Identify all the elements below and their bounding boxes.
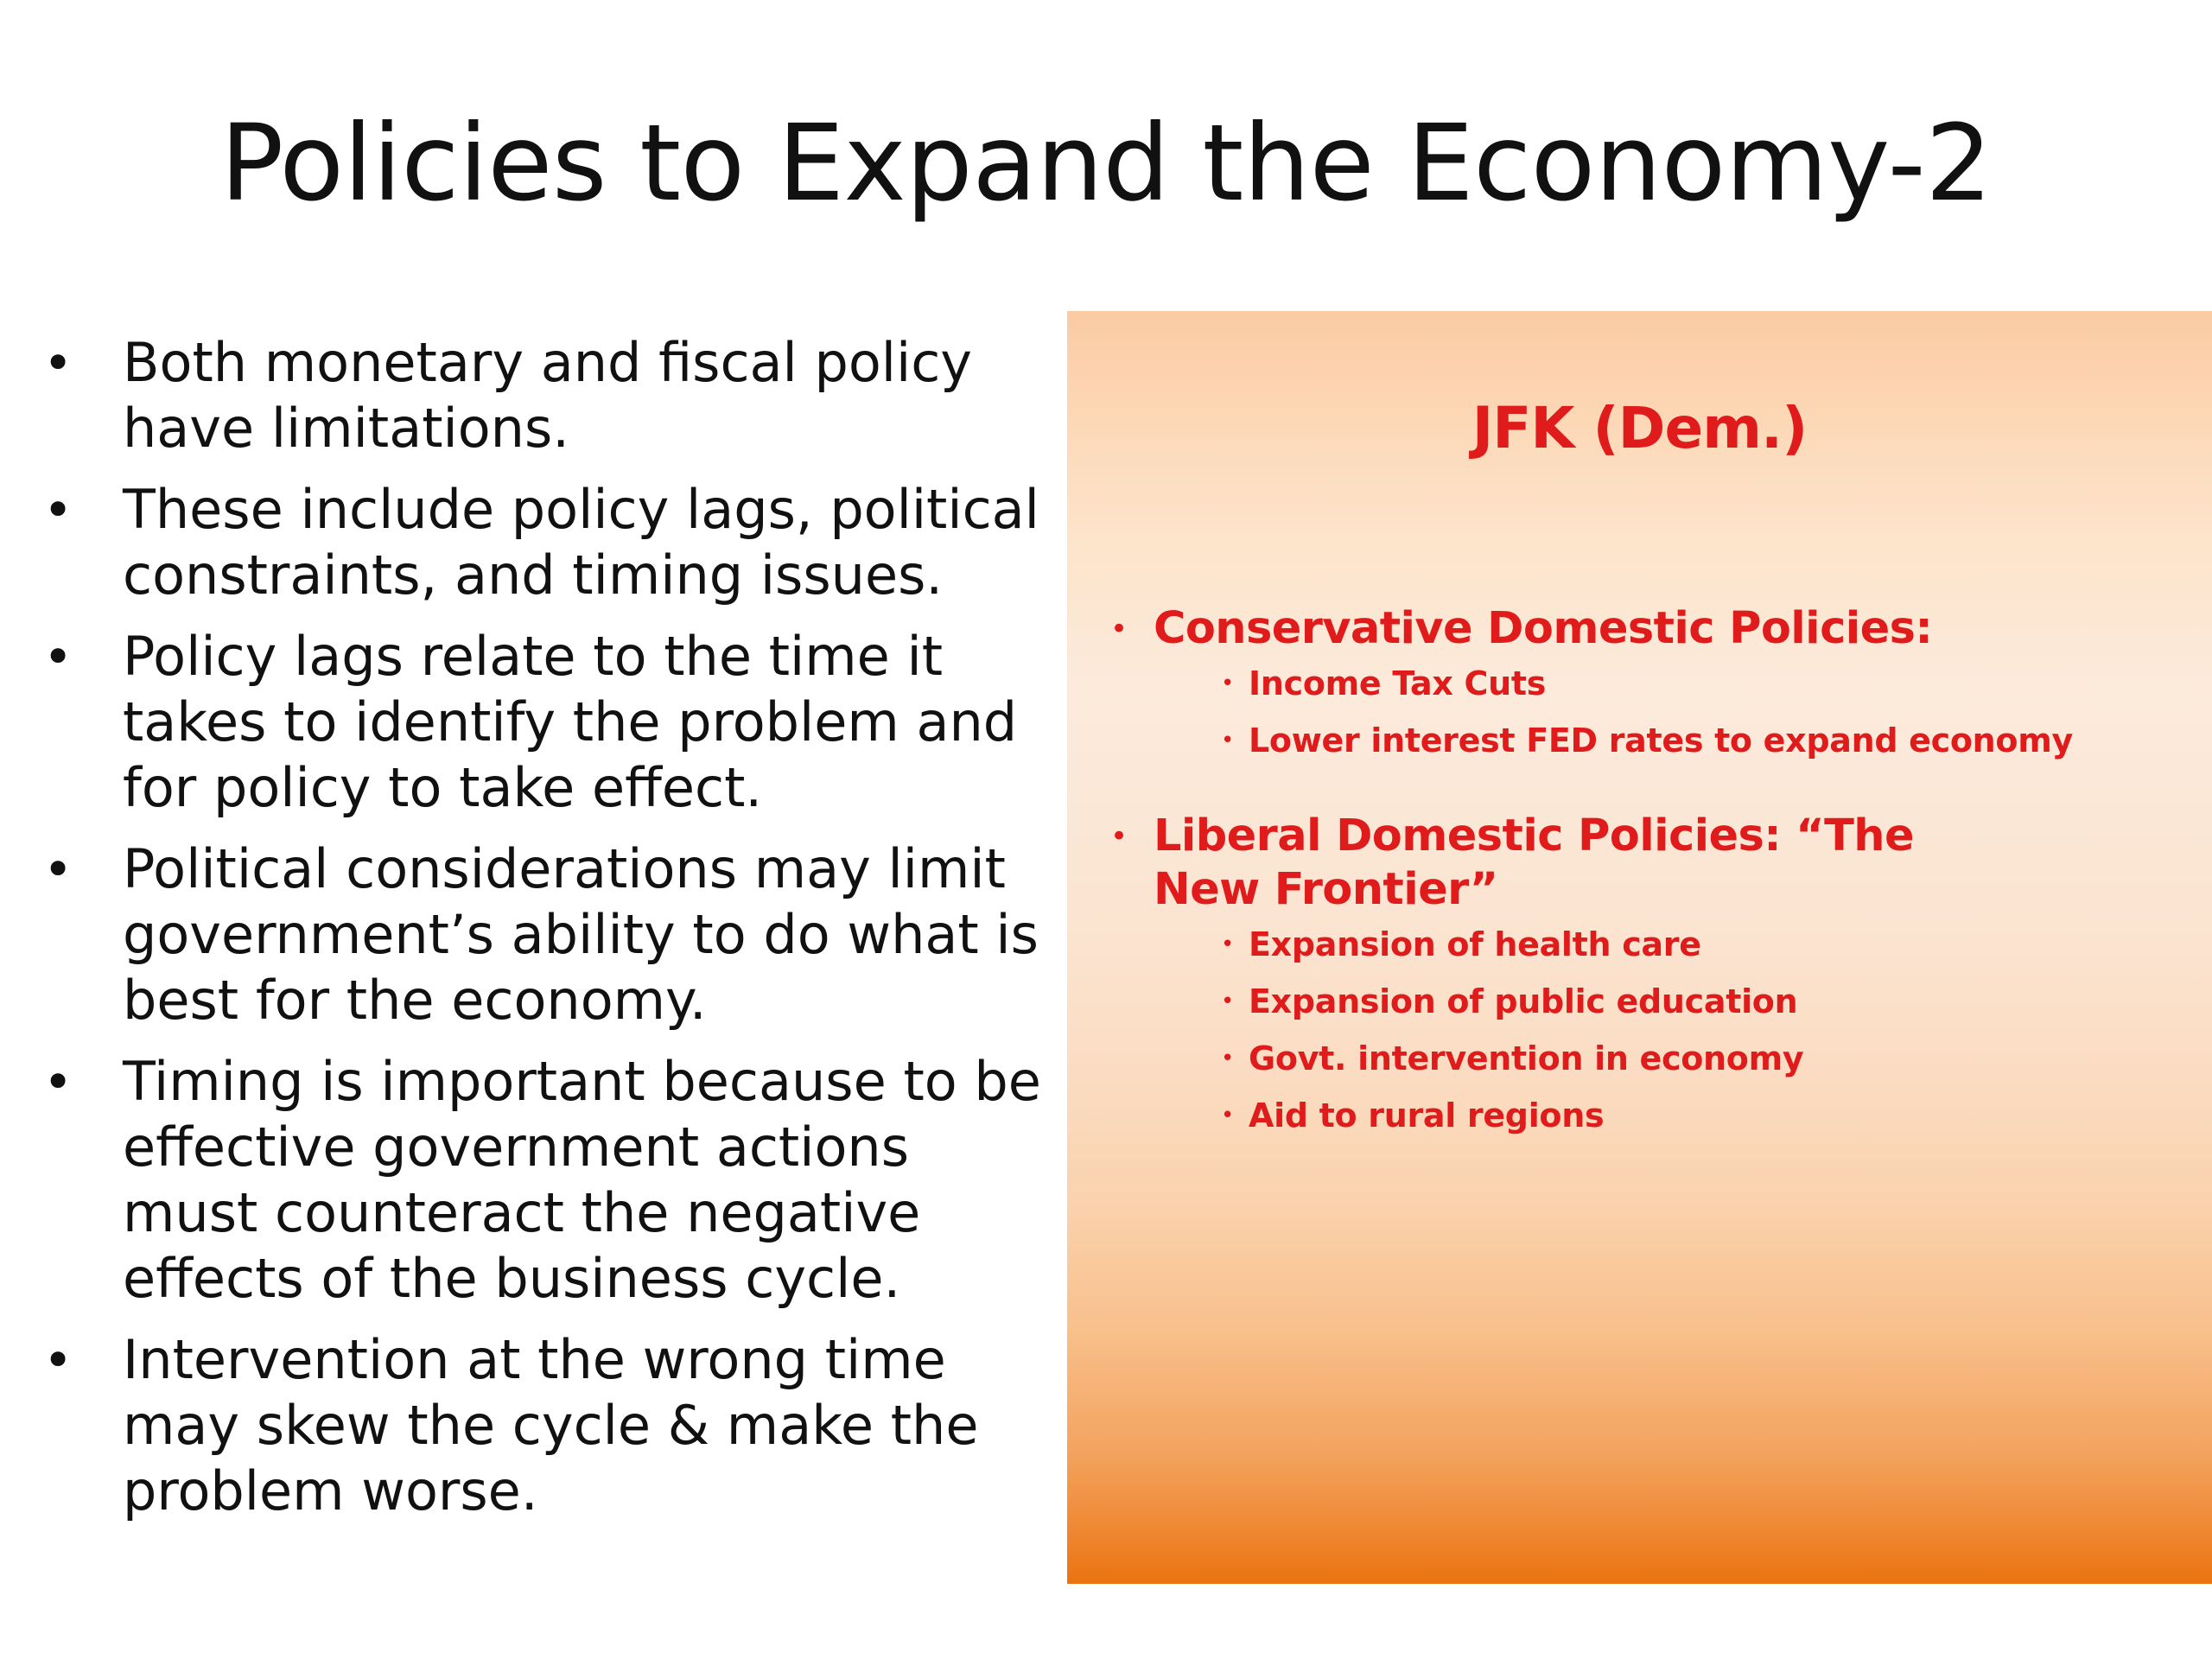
policy-group-liberal: • Liberal Domestic Policies: “The New Fr… [1110, 810, 2190, 1136]
jfk-policy-panel: JFK (Dem.) • Conservative Domestic Polic… [1067, 311, 2212, 1584]
policy-group-heading: • Liberal Domestic Policies: “The New Fr… [1110, 810, 2190, 917]
list-item-label: Expansion of public education [1249, 981, 2190, 1022]
bullet-icon: • [26, 330, 123, 396]
bullet-icon: • [26, 836, 123, 902]
policy-sub-list: • Income Tax Cuts • Lower interest FED r… [1110, 663, 2190, 761]
policy-sub-list: • Expansion of health care • Expansion o… [1110, 924, 2190, 1136]
list-item-label: Expansion of health care [1249, 924, 2190, 965]
policy-group-conservative: • Conservative Domestic Policies: • Inco… [1110, 602, 2190, 761]
list-item: • Govt. intervention in economy [1221, 1038, 2190, 1079]
bullet-icon: • [26, 1049, 123, 1115]
policy-group-heading-label: Conservative Domestic Policies: [1154, 602, 1983, 656]
list-item-label: Both monetary and fiscal policy have lim… [123, 330, 1054, 461]
policy-group-heading: • Conservative Domestic Policies: [1110, 602, 2190, 656]
bullet-icon: • [1110, 810, 1154, 863]
bullet-icon: • [26, 477, 123, 543]
bullet-icon: • [1110, 602, 1154, 656]
list-item: • Expansion of public education [1221, 981, 2190, 1022]
list-item: • Income Tax Cuts [1221, 663, 2190, 704]
list-item: • Political considerations may limit gov… [26, 836, 1054, 1033]
list-item: • Intervention at the wrong time may ske… [26, 1327, 1054, 1524]
list-item-label: Income Tax Cuts [1249, 663, 2190, 704]
list-item: • Expansion of health care [1221, 924, 2190, 965]
list-item-label: Lower interest FED rates to expand econo… [1249, 720, 2190, 761]
policy-group-heading-label: Liberal Domestic Policies: “The New Fron… [1154, 810, 1983, 917]
list-item-label: Intervention at the wrong time may skew … [123, 1327, 1054, 1524]
bullet-icon: • [1221, 1038, 1249, 1079]
list-item-label: Timing is important because to be effect… [123, 1049, 1054, 1312]
list-item: • Policy lags relate to the time it take… [26, 624, 1054, 821]
list-item-label: Aid to rural regions [1249, 1095, 2190, 1136]
jfk-panel-body: • Conservative Domestic Policies: • Inco… [1110, 602, 2190, 1166]
bullet-icon: • [1221, 663, 1249, 704]
page-title: Policies to Expand the Economy-2 [0, 111, 2212, 216]
bullet-icon: • [1221, 924, 1249, 965]
list-item: • Timing is important because to be effe… [26, 1049, 1054, 1312]
list-item: • These include policy lags, political c… [26, 477, 1054, 608]
jfk-panel-heading: JFK (Dem.) [1067, 397, 2212, 461]
list-item: • Both monetary and fiscal policy have l… [26, 330, 1054, 461]
bullet-icon: • [1221, 720, 1249, 761]
list-item-label: These include policy lags, political con… [123, 477, 1054, 608]
list-item-label: Policy lags relate to the time it takes … [123, 624, 1054, 821]
list-item-label: Govt. intervention in economy [1249, 1038, 2190, 1079]
left-bullet-list: • Both monetary and fiscal policy have l… [26, 330, 1054, 1540]
bullet-icon: • [1221, 981, 1249, 1022]
list-item: • Lower interest FED rates to expand eco… [1221, 720, 2190, 761]
bullet-icon: • [1221, 1095, 1249, 1136]
list-item: • Aid to rural regions [1221, 1095, 2190, 1136]
list-item-label: Political considerations may limit gover… [123, 836, 1054, 1033]
bullet-icon: • [26, 624, 123, 690]
bullet-icon: • [26, 1327, 123, 1393]
